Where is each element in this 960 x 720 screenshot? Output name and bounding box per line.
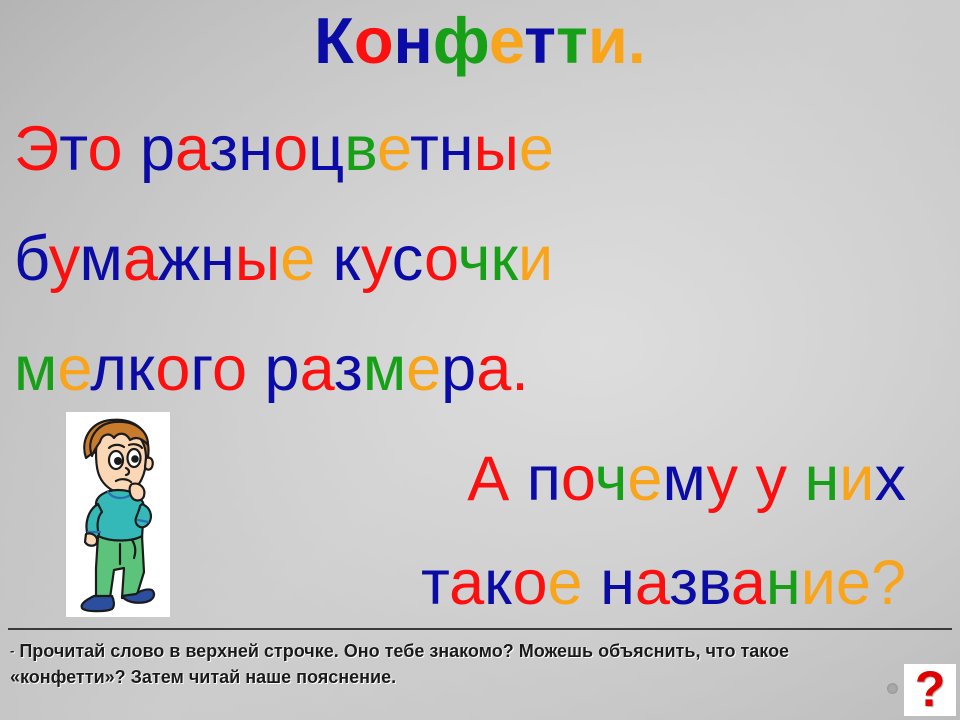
line5-glyph-11: н xyxy=(766,548,801,618)
text-line-3: мелкого размера. xyxy=(14,338,529,401)
line2-glyph-4: ж xyxy=(158,224,200,294)
line3-space xyxy=(247,334,265,404)
line3-glyph-10: з xyxy=(334,334,363,404)
line5-glyph-6: н xyxy=(600,548,635,618)
line3-glyph-4: о xyxy=(155,334,190,404)
line3-glyph-11: м xyxy=(363,334,406,404)
title-glyph-2: н xyxy=(394,4,433,77)
line5-glyph-10: а xyxy=(731,548,766,618)
line1-glyph-8: о xyxy=(273,114,308,184)
line1-glyph-14: ы xyxy=(474,114,519,184)
line5-glyph-13: е xyxy=(836,548,871,618)
line5-space xyxy=(583,548,601,618)
line5-glyph-7: а xyxy=(635,548,669,618)
line3-glyph-3: к xyxy=(127,334,155,404)
line5-glyph-0: т xyxy=(421,548,449,618)
line1-glyph-9: ц xyxy=(308,114,344,184)
line3-glyph-12: е xyxy=(406,334,441,404)
line5-glyph-8: з xyxy=(669,548,698,618)
bullet-dot-marker xyxy=(887,683,898,694)
line2-glyph-1: у xyxy=(49,224,80,294)
line4-glyph-4: ч xyxy=(595,444,628,514)
line1-glyph-7: н xyxy=(238,114,273,184)
line5-glyph-2: к xyxy=(484,548,512,618)
line3-glyph-1: е xyxy=(57,334,90,404)
line2-glyph-12: о xyxy=(424,224,458,294)
line4-glyph-5: е xyxy=(627,444,662,514)
line3-glyph-0: м xyxy=(14,334,57,404)
line1-glyph-2: о xyxy=(87,114,122,184)
line2-space xyxy=(315,224,333,294)
line1-space xyxy=(122,114,140,184)
line2-glyph-3: а xyxy=(123,224,158,294)
caption-text: - Прочитай слово в верхней строчке. Оно … xyxy=(10,638,890,690)
line2-glyph-13: ч xyxy=(458,224,491,294)
line3-glyph-15: . xyxy=(511,334,529,404)
slide-title: Конфетти. xyxy=(0,8,960,73)
line4-space xyxy=(787,444,805,514)
line3-glyph-13: р xyxy=(441,334,476,404)
title-glyph-6: т xyxy=(556,4,588,77)
line1-glyph-15: е xyxy=(519,114,554,184)
line2-glyph-6: ы xyxy=(235,224,280,294)
line2-glyph-0: б xyxy=(14,224,49,294)
caption-dash: - xyxy=(10,643,14,658)
line5-glyph-12: и xyxy=(801,548,836,618)
text-line-1: Это разноцветные xyxy=(14,118,554,181)
line4-space xyxy=(738,444,756,514)
line4-glyph-6: м xyxy=(662,444,706,514)
line5-glyph-3: о xyxy=(512,548,547,618)
title-glyph-5: т xyxy=(524,4,556,77)
line5-glyph-9: в xyxy=(698,548,731,618)
line4-glyph-9: у xyxy=(755,444,787,514)
line1-glyph-12: т xyxy=(410,114,439,184)
line2-glyph-2: м xyxy=(80,224,123,294)
line4-glyph-7: у xyxy=(706,444,738,514)
help-question-badge[interactable]: ? xyxy=(904,664,956,716)
slide-canvas: Конфетти. Это разноцветные бумажные кусо… xyxy=(0,0,960,720)
line2-glyph-10: у xyxy=(361,224,392,294)
line2-glyph-11: с xyxy=(392,224,424,294)
line4-space xyxy=(509,444,527,514)
line3-glyph-8: р xyxy=(265,334,300,404)
line3-glyph-2: л xyxy=(90,334,127,404)
line3-glyph-6: о xyxy=(212,334,247,404)
line4-glyph-2: п xyxy=(527,444,561,514)
thinking-boy-image xyxy=(66,412,170,617)
caption-body: Прочитай слово в верхней строчке. Оно те… xyxy=(10,641,789,687)
title-glyph-1: о xyxy=(354,4,394,77)
line2-glyph-14: к xyxy=(490,224,518,294)
line1-glyph-13: н xyxy=(439,114,474,184)
caption-divider xyxy=(8,628,952,630)
line2-glyph-15: и xyxy=(518,224,553,294)
line3-glyph-9: а xyxy=(300,334,334,404)
text-line-2: бумажные кусочки xyxy=(14,228,553,291)
caption-area: - Прочитай слово в верхней строчке. Оно … xyxy=(0,628,960,720)
line5-glyph-14: ? xyxy=(871,548,906,618)
line4-glyph-12: и xyxy=(839,444,874,514)
title-glyph-8: . xyxy=(628,4,646,77)
title-glyph-4: е xyxy=(489,4,524,77)
line4-glyph-0: А xyxy=(467,444,509,514)
line1-glyph-1: т xyxy=(59,114,87,184)
line4-glyph-3: о xyxy=(561,444,595,514)
question-mark-icon: ? xyxy=(915,664,946,714)
line3-glyph-14: а xyxy=(476,334,511,404)
line1-glyph-0: Э xyxy=(14,114,59,184)
line2-glyph-7: е xyxy=(280,224,315,294)
line1-glyph-11: е xyxy=(377,114,410,184)
line1-glyph-6: з xyxy=(209,114,238,184)
line1-glyph-4: р xyxy=(140,114,175,184)
title-glyph-3: ф xyxy=(433,4,489,77)
line4-glyph-13: х xyxy=(875,444,907,514)
title-glyph-7: и xyxy=(588,4,628,77)
line3-glyph-5: г xyxy=(190,334,212,404)
line2-glyph-9: к xyxy=(333,224,361,294)
line2-glyph-5: н xyxy=(200,224,235,294)
line1-glyph-10: в xyxy=(344,114,377,184)
line5-glyph-4: е xyxy=(548,548,583,618)
line4-glyph-11: н xyxy=(805,444,840,514)
line1-glyph-5: а xyxy=(175,114,209,184)
line5-glyph-1: а xyxy=(449,548,484,618)
title-glyph-0: К xyxy=(314,4,354,77)
